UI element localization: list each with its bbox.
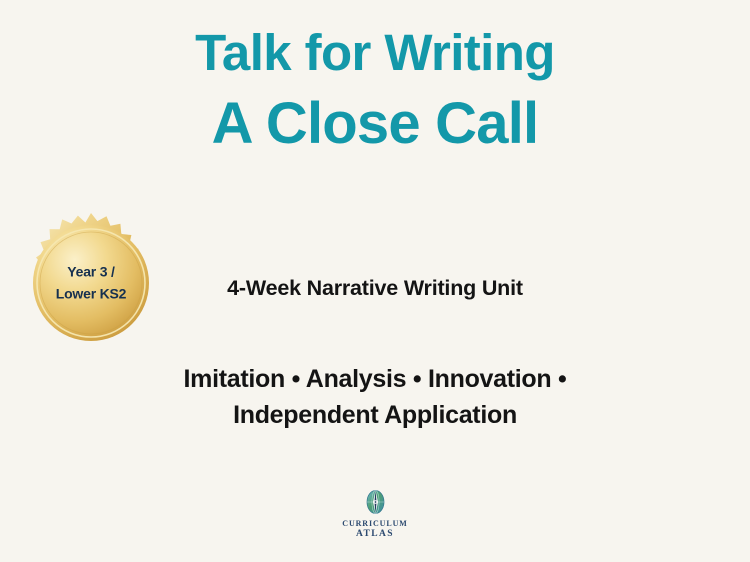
slide-canvas: Talk for Writing A Close Call bbox=[0, 0, 750, 562]
year-group-badge: Year 3 / Lower KS2 bbox=[15, 207, 167, 359]
brand-line-2: ATLAS bbox=[0, 529, 750, 541]
unit-subtitle: 4-Week Narrative Writing Unit bbox=[160, 276, 590, 301]
badge-line-1: Year 3 / bbox=[35, 261, 147, 283]
badge-line-2: Lower KS2 bbox=[35, 283, 147, 305]
page-title: Talk for Writing A Close Call bbox=[0, 26, 750, 154]
globe-compass-icon bbox=[362, 487, 389, 517]
brand-logo: CURRICULUM ATLAS bbox=[0, 487, 750, 540]
brand-line-1: CURRICULUM bbox=[0, 519, 750, 529]
pillars-line-2: Independent Application bbox=[60, 398, 690, 434]
title-line-1: Talk for Writing bbox=[0, 26, 750, 80]
teaching-pillars: Imitation • Analysis • Innovation • Inde… bbox=[60, 362, 690, 433]
title-line-2: A Close Call bbox=[0, 94, 750, 155]
brand-logo-text: CURRICULUM ATLAS bbox=[0, 519, 750, 540]
pillars-line-1: Imitation • Analysis • Innovation • bbox=[60, 362, 690, 398]
badge-label: Year 3 / Lower KS2 bbox=[35, 261, 147, 304]
